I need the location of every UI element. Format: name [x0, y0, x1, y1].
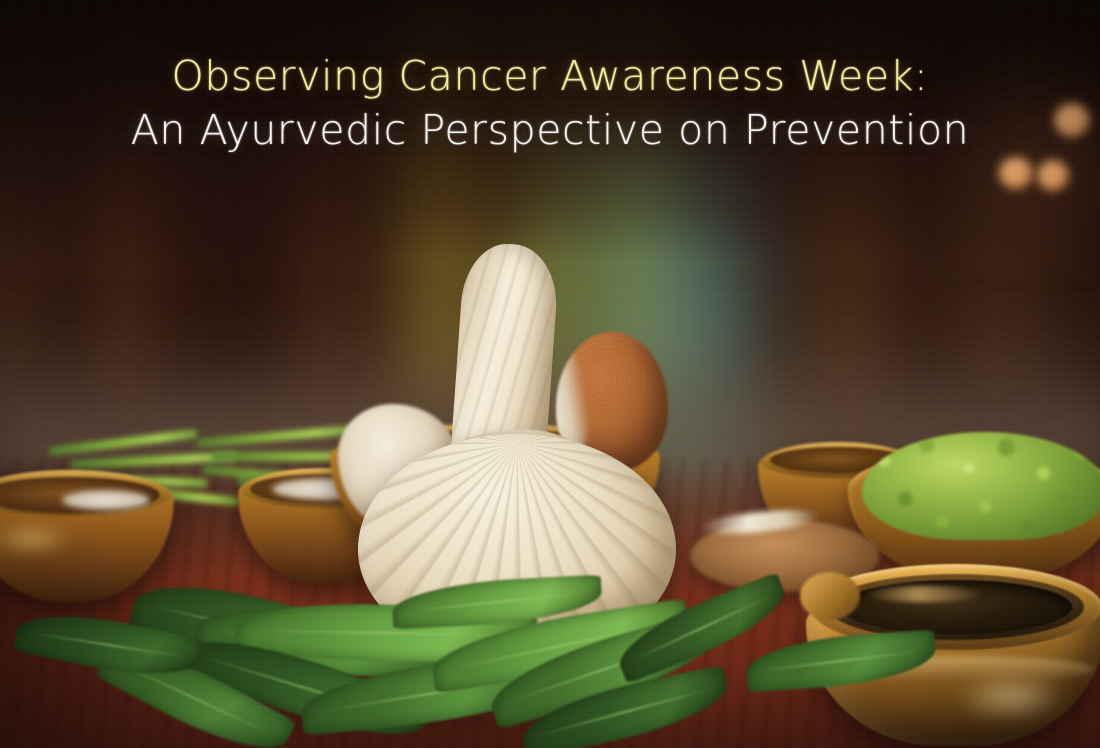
vessel-specular-highlight — [956, 674, 1066, 720]
bokeh-light-1 — [1054, 103, 1090, 137]
vessel-pour-lip — [800, 572, 860, 620]
bowl-contents-white-paste — [62, 490, 150, 510]
bokeh-light-2 — [999, 157, 1033, 189]
chopped-green-herbs — [862, 432, 1100, 540]
bokeh-light-3 — [1037, 160, 1069, 191]
background-top-shade — [0, 0, 1100, 260]
oil-surface-reflection — [864, 586, 984, 602]
herb-texture — [862, 432, 1100, 540]
promotional-banner: Observing Cancer Awareness Week: An Ayur… — [0, 0, 1100, 748]
